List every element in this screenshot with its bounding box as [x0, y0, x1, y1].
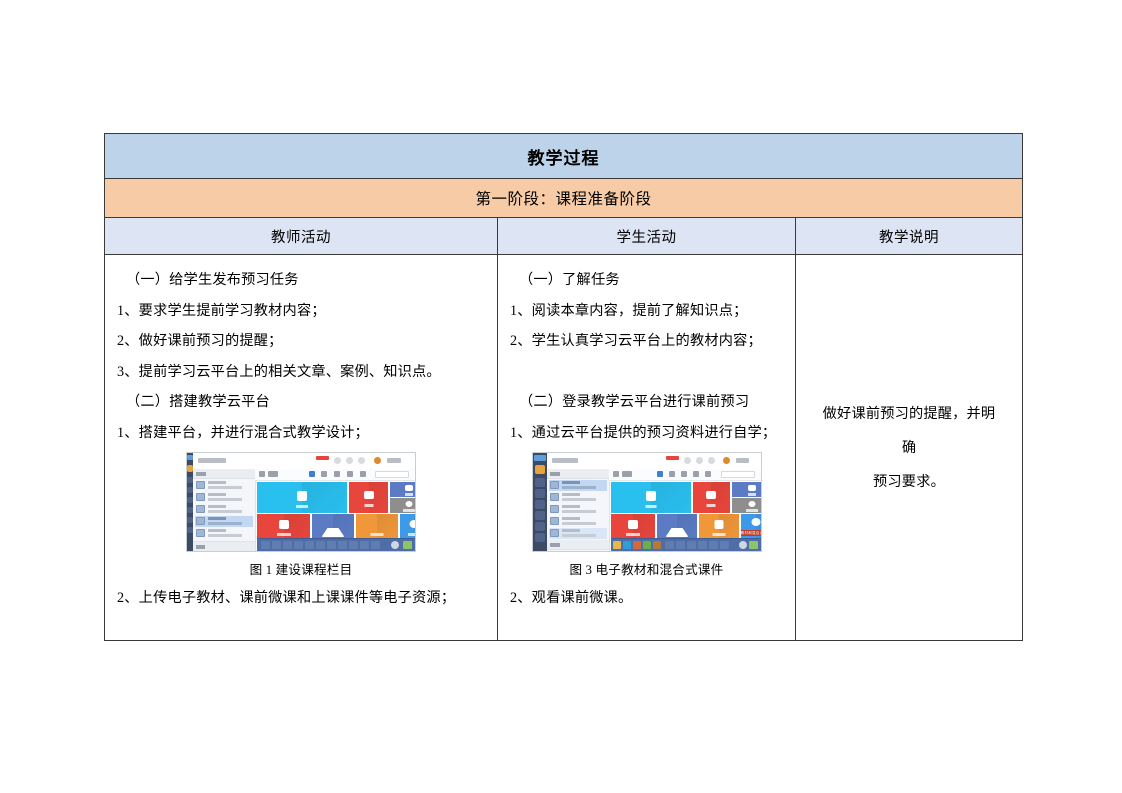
fig3-left-rail — [533, 453, 547, 551]
chat-icon — [405, 501, 412, 507]
fig3-rail-logo-icon — [534, 455, 546, 461]
fig1-avatar[interactable] — [374, 457, 381, 464]
fig3-tile-grid: 电子教材和混合式课件 — [611, 482, 760, 538]
student-line-3-blank — [510, 357, 783, 388]
fig3-item-title — [562, 529, 580, 532]
fig3-tool-move-icon[interactable] — [693, 471, 699, 477]
fig3-taskbar-slot — [709, 541, 718, 549]
book-icon — [706, 491, 716, 499]
teaching-note-cell: 做好课前预习的提醒，并明确 预习要求。 — [796, 255, 1023, 641]
fig3-tile-label — [707, 504, 716, 507]
fig3-taskbar-app-4[interactable] — [643, 541, 651, 549]
fig1-layout-icon[interactable] — [268, 471, 278, 477]
fig1-item-sub — [208, 534, 242, 537]
fig1-item-thumb-icon — [196, 517, 205, 525]
fig3-item-thumb-icon — [550, 493, 559, 501]
fig1-tile-label — [364, 504, 373, 507]
fig3-tile-jiaocai[interactable] — [693, 482, 730, 513]
fig1-taskbar-slot — [294, 541, 303, 549]
student-line-1: 1、阅读本章内容，提前了解知识点； — [510, 296, 783, 327]
student-activity-content: （一）了解任务 1、阅读本章内容，提前了解知识点； 2、学生认真学习云平台上的教… — [498, 255, 795, 640]
fig3-tool-edit-icon[interactable] — [669, 471, 675, 477]
fig3-help-icon[interactable] — [708, 457, 715, 464]
fig1-taskbar-slot — [371, 541, 380, 549]
fig1-item-sub — [208, 522, 242, 525]
fig1-tile-tongzhi[interactable] — [390, 482, 416, 497]
table-header-row: 教师活动 学生活动 教学说明 — [105, 218, 1023, 255]
fig3-taskbar-app-5[interactable] — [653, 541, 661, 549]
fig1-taskbar-slot — [360, 541, 369, 549]
fig1-tile-zuoye[interactable] — [349, 482, 388, 513]
note-line-1: 预习要求。 — [873, 465, 945, 499]
fig1-tile-chengji[interactable] — [400, 514, 416, 541]
student-line-0: （一）了解任务 — [510, 265, 783, 296]
fig3-breadcrumb — [552, 458, 578, 463]
fig1-tile-label — [327, 533, 340, 536]
fig1-course-list-panel — [193, 469, 256, 551]
fig3-tool-copy-icon[interactable] — [681, 471, 687, 477]
fig3-item-sub — [562, 534, 596, 537]
fig3-tile-ceshi[interactable] — [657, 514, 697, 541]
fig3-item-thumb-icon — [550, 481, 559, 489]
fig1-alert-badge-icon — [316, 456, 329, 460]
fig3-search-input[interactable] — [721, 471, 755, 478]
fig1-tool-move-icon[interactable] — [347, 471, 353, 477]
fig3-taskbar-slot — [720, 541, 729, 549]
table-body-row: （一）给学生发布预习任务 1、要求学生提前学习教材内容； 2、做好课前预习的提醒… — [105, 255, 1023, 641]
fig3-bell-icon[interactable] — [684, 457, 691, 464]
teacher-line-3: 3、提前学习云平台上的相关文章、案例、知识点。 — [117, 357, 485, 388]
fig1-toolbar — [255, 469, 415, 481]
fig3-item-sub — [562, 498, 596, 501]
fig1-message-icon[interactable] — [346, 457, 353, 464]
fig3-taskbar-slot — [676, 541, 685, 549]
fig1-list-header — [193, 469, 255, 479]
fig3-tile-tongzhi[interactable] — [732, 482, 762, 497]
teacher-activity-content: （一）给学生发布预习任务 1、要求学生提前学习教材内容； 2、做好课前预习的提醒… — [105, 255, 497, 640]
fig1-tool-edit-icon[interactable] — [321, 471, 327, 477]
fig3-list-item-2[interactable] — [549, 492, 607, 503]
fig1-item-title — [208, 505, 226, 508]
fig3-taskbar-app-3[interactable] — [633, 541, 641, 549]
fig1-list-item-5[interactable] — [195, 528, 253, 539]
fig3-item-sub — [562, 486, 596, 489]
table-stage-cell: 第一阶段：课程准备阶段 — [105, 179, 1023, 218]
fig3-tile-taolun[interactable] — [732, 498, 762, 513]
fig3-tile-kejian[interactable] — [611, 482, 691, 513]
fig3-tray-icon[interactable] — [739, 541, 747, 549]
fig3-list-item-5[interactable] — [549, 528, 607, 539]
figure-3-caption: 图 3 电子教材和混合式课件 — [510, 557, 783, 583]
teacher-line-5: 1、搭建平台，并进行混合式教学设计； — [117, 418, 485, 449]
ppt-icon — [297, 491, 307, 501]
fig3-rail-icon-3 — [535, 500, 545, 509]
document-page: 教学过程 第一阶段：课程准备阶段 教师活动 学生活动 教学说明 （一）给学生发布… — [0, 0, 1122, 793]
fig1-tile-shadow — [302, 482, 347, 513]
fig1-list-footer — [193, 541, 255, 551]
note-line-0: 做好课前预习的提醒，并明确 — [822, 397, 996, 465]
chat-icon — [748, 501, 755, 507]
fig3-taskbar — [611, 538, 761, 551]
fig1-bell-icon[interactable] — [334, 457, 341, 464]
fig1-item-thumb-icon — [196, 481, 205, 489]
fig3-top-bar — [547, 453, 761, 470]
fig3-item-thumb-icon — [550, 529, 559, 537]
fig3-tool-delete-icon[interactable] — [705, 471, 711, 477]
grid-icon — [373, 520, 382, 529]
fig1-item-sub — [208, 486, 242, 489]
fig1-username — [387, 458, 401, 463]
figure-1-screenshot — [186, 452, 416, 552]
fig3-avatar[interactable] — [723, 457, 730, 464]
fig3-course-list-panel — [547, 469, 610, 551]
fig3-taskbar-app-1[interactable] — [613, 541, 621, 549]
fig1-tile-label — [405, 493, 413, 496]
fig3-item-title — [562, 481, 580, 484]
column-header-note: 教学说明 — [796, 218, 1023, 255]
fig3-tile-label — [712, 533, 725, 536]
fig1-help-icon[interactable] — [358, 457, 365, 464]
fig3-taskbar-slot — [698, 541, 707, 549]
table-title-cell: 教学过程 — [105, 134, 1023, 179]
fig3-rail-icon-4 — [535, 511, 545, 520]
fig3-list-item-6[interactable] — [549, 550, 607, 552]
fig3-rail-icon-1 — [535, 478, 545, 487]
fig3-item-sub — [562, 510, 596, 513]
student-line-2: 2、学生认真学习云平台上的教材内容； — [510, 326, 783, 357]
fig3-rail-icon-2 — [535, 489, 545, 498]
fig3-item-title — [562, 517, 580, 520]
teacher-line-0: （一）给学生发布预习任务 — [117, 265, 485, 296]
fig1-back-icon[interactable] — [259, 471, 265, 477]
teacher-after-figure: 2、上传电子教材、课前微课和上课课件等电子资源； — [117, 583, 485, 614]
fig1-item-thumb-icon — [196, 493, 205, 501]
fig3-tray-lang-icon[interactable] — [749, 541, 758, 549]
fig1-taskbar-slot — [338, 541, 347, 549]
fig3-list-subheader — [547, 540, 609, 550]
fig1-tile-label — [296, 505, 308, 508]
fig1-taskbar-slot — [327, 541, 336, 549]
column-header-student: 学生活动 — [498, 218, 796, 255]
fig1-tool-add-icon[interactable] — [309, 471, 315, 477]
fig3-rail-icon-6 — [535, 533, 545, 542]
fig3-list-item-4[interactable] — [549, 516, 607, 527]
fig1-list-item-3[interactable] — [195, 504, 253, 515]
fig3-item-thumb-icon — [550, 551, 559, 552]
fig3-item-sub — [562, 522, 596, 525]
fig3-tile-label — [670, 533, 683, 536]
fig3-tool-add-icon[interactable] — [657, 471, 663, 477]
cloud-icon — [409, 520, 416, 528]
fig3-tile-label — [645, 505, 656, 508]
fig1-item-title — [208, 481, 226, 484]
fig1-tile-grid — [257, 482, 414, 538]
fig3-username — [736, 458, 749, 463]
fig1-item-title — [208, 493, 226, 496]
ppt-icon — [646, 491, 656, 501]
fig3-item-thumb-icon — [550, 505, 559, 513]
figure-3-wrapper: 电子教材和混合式课件 — [510, 452, 783, 557]
fig1-item-thumb-icon — [196, 505, 205, 513]
student-line-4: （二）登录教学云平台进行课前预习 — [510, 387, 783, 418]
fig1-tile-label — [403, 509, 415, 512]
fig1-taskbar-slot — [283, 541, 292, 549]
fig3-rail-icon-5 — [535, 522, 545, 531]
fig3-taskbar-slot — [687, 541, 696, 549]
table-stage-row: 第一阶段：课程准备阶段 — [105, 179, 1023, 218]
fig3-tile-label — [626, 533, 640, 536]
fig3-tile-chengji[interactable]: 电子教材和混合式课件 — [741, 514, 762, 541]
monitor-icon — [405, 485, 413, 491]
fig1-taskbar-slot — [305, 541, 314, 549]
teaching-note-content: 做好课前预习的提醒，并明确 预习要求。 — [796, 255, 1022, 640]
fig1-taskbar-slot — [272, 541, 281, 549]
fig3-message-icon[interactable] — [696, 457, 703, 464]
teacher-line-2: 2、做好课前预习的提醒； — [117, 326, 485, 357]
fig1-tray-icon[interactable] — [391, 541, 399, 549]
fig1-list-item-4-selected[interactable] — [195, 516, 253, 527]
teaching-process-table: 教学过程 第一阶段：课程准备阶段 教师活动 学生活动 教学说明 （一）给学生发布… — [104, 133, 1023, 641]
fig1-taskbar-slot — [316, 541, 325, 549]
teacher-activity-cell: （一）给学生发布预习任务 1、要求学生提前学习教材内容； 2、做好课前预习的提醒… — [105, 255, 498, 641]
fig3-highlight-banner: 电子教材和混合式课件 — [741, 530, 762, 536]
cloud-icon — [752, 518, 761, 526]
monitor-icon — [748, 485, 756, 491]
grid-icon — [714, 520, 723, 529]
fig1-list-item-2[interactable] — [195, 492, 253, 503]
student-activity-cell: （一）了解任务 1、阅读本章内容，提前了解知识点； 2、学生认真学习云平台上的教… — [498, 255, 796, 641]
fig3-tile-label — [748, 493, 756, 496]
figure-1-caption: 图 1 建设课程栏目 — [117, 557, 485, 583]
fig1-tile-kejian[interactable] — [257, 482, 347, 513]
fig3-list-item-1-selected[interactable] — [549, 480, 607, 491]
fig1-tool-delete-icon[interactable] — [360, 471, 366, 477]
fig3-alert-badge-icon — [666, 456, 679, 460]
fig1-breadcrumb — [198, 458, 226, 463]
fig1-tile-label — [277, 533, 291, 536]
fig3-back-icon[interactable] — [613, 471, 619, 477]
table-title-row: 教学过程 — [105, 134, 1023, 179]
fig1-search-input[interactable] — [375, 471, 409, 478]
video-icon — [279, 520, 289, 529]
fig3-taskbar-slot — [665, 541, 674, 549]
fig1-tile-taolun[interactable] — [390, 498, 416, 513]
fig3-layout-icon[interactable] — [622, 471, 632, 477]
fig3-toolbar — [609, 469, 761, 481]
fig1-tile-ceshi[interactable] — [312, 514, 354, 541]
figure-1-wrapper — [117, 452, 485, 557]
fig3-list-header — [547, 469, 609, 479]
fig3-tile-shadow — [651, 482, 691, 513]
fig3-item-title — [562, 505, 580, 508]
fig1-tray-lang-icon[interactable] — [403, 541, 412, 549]
fig3-taskbar-app-2[interactable] — [623, 541, 631, 549]
fig1-taskbar-slot — [261, 541, 270, 549]
fig3-tile-label — [746, 509, 758, 512]
fig3-tile-shipin[interactable] — [611, 514, 655, 541]
fig1-tile-shipin[interactable] — [257, 514, 310, 541]
fig1-item-title — [208, 517, 226, 520]
book-icon — [364, 491, 374, 499]
fig3-item-thumb-icon — [550, 517, 559, 525]
student-after-figure: 2、观看课前微课。 — [510, 583, 783, 614]
fig3-tile-ziliao[interactable] — [699, 514, 739, 541]
column-header-teacher: 教师活动 — [105, 218, 498, 255]
fig3-item-title — [562, 493, 580, 496]
teacher-line-1: 1、要求学生提前学习教材内容； — [117, 296, 485, 327]
fig3-list-item-3[interactable] — [549, 504, 607, 515]
student-line-5: 1、通过云平台提供的预习资料进行自学； — [510, 418, 783, 449]
fig1-tile-ziliao[interactable] — [356, 514, 398, 541]
fig1-taskbar — [257, 538, 415, 551]
fig1-item-sub — [208, 498, 242, 501]
fig1-tile-label — [408, 533, 417, 536]
fig1-tool-copy-icon[interactable] — [334, 471, 340, 477]
fig1-item-sub — [208, 510, 242, 513]
fig1-item-thumb-icon — [196, 529, 205, 537]
fig1-top-bar — [193, 453, 415, 470]
fig1-taskbar-slot — [349, 541, 358, 549]
teacher-line-4: （二）搭建教学云平台 — [117, 387, 485, 418]
fig1-item-title — [208, 529, 226, 532]
fig1-list-item-1[interactable] — [195, 480, 253, 491]
video-icon — [628, 520, 638, 529]
figure-3-screenshot: 电子教材和混合式课件 — [532, 452, 762, 552]
fig1-tile-label — [371, 533, 384, 536]
fig3-rail-highlight-icon — [535, 465, 545, 474]
